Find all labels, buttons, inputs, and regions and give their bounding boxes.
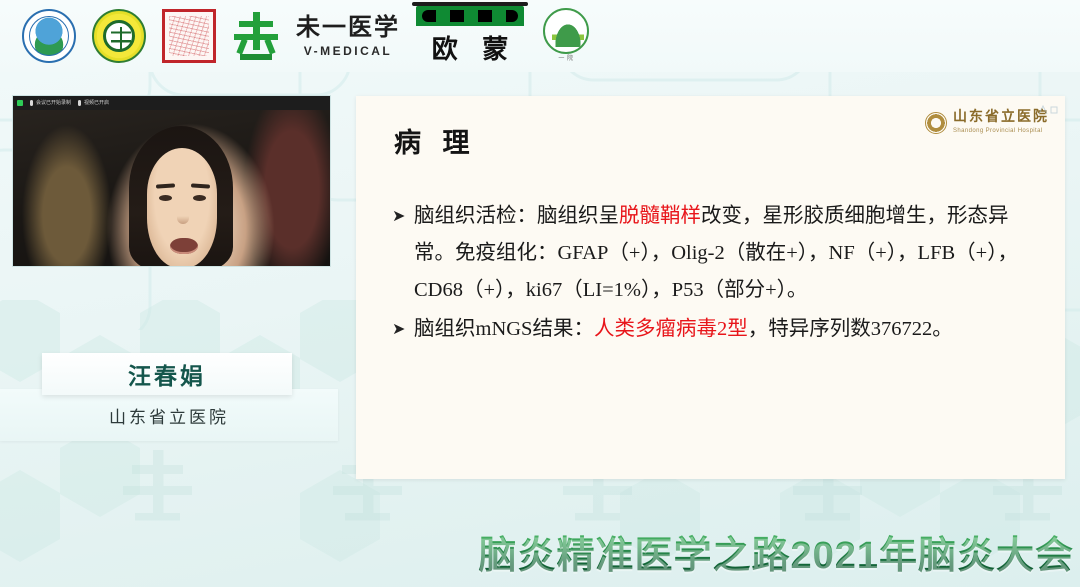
globe-seal-logo bbox=[22, 9, 76, 63]
bullet-2-segment-0: 脑组织mNGS结果： bbox=[414, 318, 594, 340]
bullet-arrow-icon: ➤ bbox=[392, 198, 414, 235]
slide-title: 病 理 bbox=[394, 121, 477, 160]
conference-banner: 脑炎精准医学之路2021年脑炎大会 bbox=[0, 515, 1080, 587]
hospital-name-en: Shandong Provincial Hospital bbox=[953, 128, 1049, 134]
recording-indicator-icon bbox=[17, 100, 23, 106]
speaker-affiliation-plate: 山东省立医院 bbox=[0, 389, 338, 441]
slide-card: 病 理 山东省立医院 Shandong Provincial Hospital … bbox=[356, 96, 1065, 479]
speaker-eye-right bbox=[193, 195, 206, 201]
bullet-text-2: 脑组织mNGS结果：人类多瘤病毒2型，特异序列数376722。 bbox=[414, 311, 1039, 348]
green-hospital-logo: 一 院 bbox=[540, 8, 592, 64]
wei-mark-logo bbox=[232, 10, 280, 62]
speaker-nose bbox=[177, 204, 189, 224]
bullet-text-1: 脑组织活检：脑组织呈脱髓鞘样改变，星形胶质细胞增生，形态异常。免疫组化：GFAP… bbox=[414, 198, 1039, 309]
recording-status-chip: 会议已开始录制 bbox=[30, 100, 71, 106]
bullet-1-segment-0: 脑组织活检：脑组织呈 bbox=[414, 205, 619, 227]
bullet-1-highlight: 脱髓鞘样 bbox=[619, 205, 701, 227]
presentation-screen: 未一医学 V-MEDICAL 欧 蒙 一 院 会议已开始录制 bbox=[0, 0, 1080, 587]
sponsor-logo-bar: 未一医学 V-MEDICAL 欧 蒙 一 院 bbox=[0, 0, 1080, 72]
v-medical-cn-label: 未一医学 bbox=[296, 16, 400, 40]
camera-icon bbox=[78, 100, 81, 106]
conference-title: 脑炎精准医学之路2021年脑炎大会 bbox=[478, 524, 1074, 579]
video-status-label: 视频已开启 bbox=[84, 101, 109, 106]
speaker-name-plate: 汪春娟 bbox=[42, 353, 292, 395]
yellow-green-seal-logo bbox=[92, 9, 146, 63]
speaker-affiliation: 山东省立医院 bbox=[109, 403, 229, 428]
v-medical-en-label: V-MEDICAL bbox=[304, 45, 393, 57]
v-medical-logo: 未一医学 V-MEDICAL bbox=[296, 16, 400, 57]
corner-decoration-icon bbox=[1037, 102, 1059, 118]
speaker-name: 汪春娟 bbox=[128, 357, 206, 391]
speaker-eye-left bbox=[159, 195, 172, 201]
bullet-2-segment-2: ，特异序列数376722。 bbox=[748, 318, 953, 340]
speaker-mouth bbox=[170, 238, 198, 254]
bullet-arrow-icon: ➤ bbox=[392, 311, 414, 348]
video-status-chip: 视频已开启 bbox=[78, 100, 109, 106]
microphone-icon bbox=[30, 100, 33, 106]
green-hospital-caption: 一 院 bbox=[540, 54, 592, 64]
oumeng-logo: 欧 蒙 bbox=[416, 6, 524, 66]
recording-status-label: 会议已开始录制 bbox=[36, 101, 71, 106]
video-status-bar: 会议已开始录制 视频已开启 bbox=[13, 96, 330, 110]
hospital-seal-icon bbox=[925, 112, 947, 134]
list-item: ➤ 脑组织mNGS结果：人类多瘤病毒2型，特异序列数376722。 bbox=[392, 311, 1039, 348]
bullet-2-highlight: 人类多瘤病毒2型 bbox=[594, 318, 748, 340]
list-item: ➤ 脑组织活检：脑组织呈脱髓鞘样改变，星形胶质细胞增生，形态异常。免疫组化：GF… bbox=[392, 198, 1039, 309]
red-square-seal-logo bbox=[162, 9, 216, 63]
speaker-video-tile[interactable]: 会议已开始录制 视频已开启 bbox=[13, 96, 330, 266]
oumeng-bar-mark bbox=[416, 6, 524, 26]
oumeng-cn-label: 欧 蒙 bbox=[423, 29, 518, 66]
slide-bullet-list: ➤ 脑组织活检：脑组织呈脱髓鞘样改变，星形胶质细胞增生，形态异常。免疫组化：GF… bbox=[392, 198, 1039, 350]
hospital-logo: 山东省立医院 Shandong Provincial Hospital bbox=[925, 111, 1049, 134]
hospital-name-cn: 山东省立医院 bbox=[953, 111, 1049, 125]
